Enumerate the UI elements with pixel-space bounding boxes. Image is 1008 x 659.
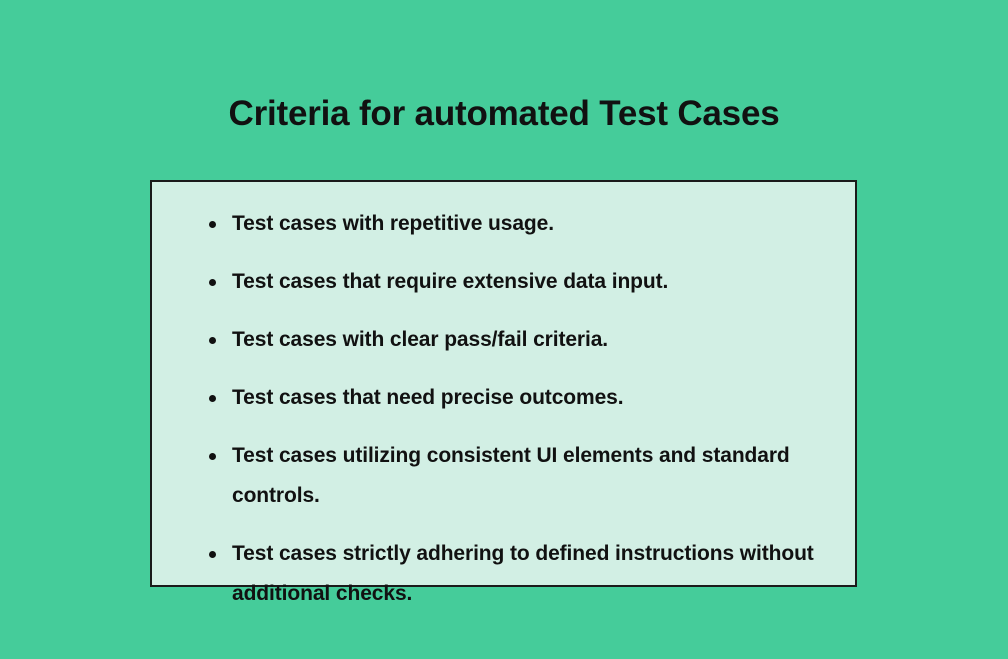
list-item: Test cases that require extensive data i…: [207, 262, 823, 302]
bullet-icon: [209, 551, 216, 558]
criteria-list: Test cases with repetitive usage. Test c…: [207, 204, 823, 614]
bullet-icon: [209, 395, 216, 402]
list-item: Test cases with clear pass/fail criteria…: [207, 320, 823, 360]
bullet-icon: [209, 453, 216, 460]
list-item: Test cases strictly adhering to defined …: [207, 534, 823, 614]
slide-canvas: Criteria for automated Test Cases Test c…: [0, 0, 1008, 659]
list-item: Test cases with repetitive usage.: [207, 204, 823, 244]
list-item: Test cases utilizing consistent UI eleme…: [207, 436, 823, 516]
list-item-label: Test cases with clear pass/fail criteria…: [232, 320, 823, 360]
list-item-label: Test cases with repetitive usage.: [232, 204, 823, 244]
bullet-icon: [209, 221, 216, 228]
list-item-label: Test cases that require extensive data i…: [232, 262, 823, 302]
list-item: Test cases that need precise outcomes.: [207, 378, 823, 418]
list-item-label: Test cases utilizing consistent UI eleme…: [232, 436, 823, 516]
list-item-label: Test cases that need precise outcomes.: [232, 378, 823, 418]
list-item-label: Test cases strictly adhering to defined …: [232, 534, 823, 614]
bullet-icon: [209, 337, 216, 344]
bullet-icon: [209, 279, 216, 286]
criteria-card: Test cases with repetitive usage. Test c…: [150, 180, 857, 587]
page-title: Criteria for automated Test Cases: [0, 89, 1008, 139]
